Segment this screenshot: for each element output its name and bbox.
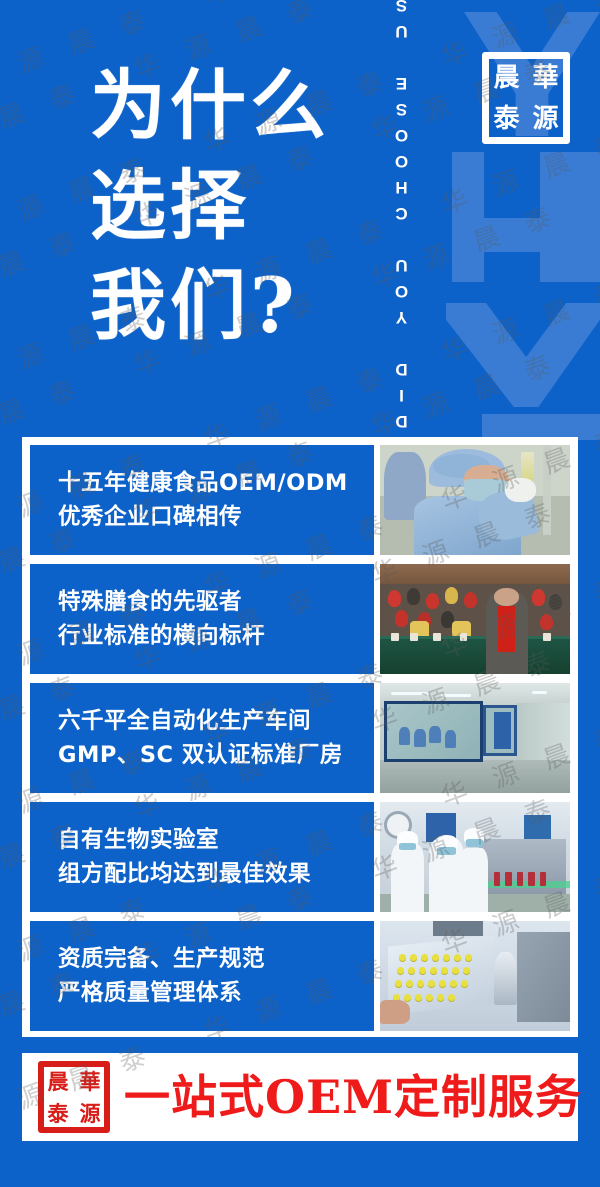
seal-red-char-top-left: 晨	[48, 1071, 69, 1092]
headline-line-3: 我们?	[90, 256, 330, 356]
list-item: 十五年健康食品OEM/ODM 优秀企业口碑相传	[30, 445, 570, 555]
seal-char-bottom-right: 源	[532, 106, 558, 132]
list-item: 特殊膳食的先驱者 行业标准的横向标杆	[30, 564, 570, 674]
decor-letter-h-bar	[452, 218, 600, 252]
feature-text-2: 特殊膳食的先驱者 行业标准的横向标杆	[30, 564, 374, 674]
feature-photo-blister-packaging	[380, 921, 570, 1031]
feature-2-line-1: 特殊膳食的先驱者	[58, 585, 374, 619]
feature-5-line-1: 资质完备、生产规范	[58, 942, 374, 976]
seal-stamp-white: 晨 華 泰 源	[482, 52, 570, 144]
feature-1-line-2: 优秀企业口碑相传	[58, 500, 374, 534]
list-item: 六千平全自动化生产车间 GMP、SC 双认证标准厂房	[30, 683, 570, 793]
feature-4-line-1: 自有生物实验室	[58, 823, 374, 857]
feature-text-1: 十五年健康食品OEM/ODM 优秀企业口碑相传	[30, 445, 374, 555]
headline-line-2: 选择	[90, 156, 330, 256]
watermark-text: 华 源 晨 泰	[0, 226, 89, 318]
feature-5-line-2: 严格质量管理体系	[58, 976, 374, 1010]
cta-banner-text: 一站式OEM定制服务	[124, 1074, 582, 1120]
headline-line-1: 为什么	[90, 56, 330, 156]
watermark-row: 华 源 晨 泰华 源 晨 泰华 源 晨 泰华 源 晨 泰华 源 晨 泰	[0, 0, 562, 25]
watermark-text: 华 源 晨 泰	[0, 78, 89, 170]
seal-char-bottom-left: 泰	[493, 106, 519, 132]
vertical-caption: DID YOU CHOOSE US	[392, 14, 412, 406]
brand-logo-red: 晨 華 泰 源	[38, 1061, 110, 1133]
list-item: 自有生物实验室 组方配比均达到最佳效果	[30, 802, 570, 912]
feature-photo-production-line	[380, 802, 570, 912]
feature-photo-cleanroom	[380, 683, 570, 793]
decor-letter-h-left	[452, 152, 484, 282]
feature-photo-conference	[380, 564, 570, 674]
seal-red-char-bottom-left: 泰	[48, 1103, 69, 1124]
feature-4-line-2: 组方配比均达到最佳效果	[58, 857, 374, 891]
watermark-text: 华 源 晨 泰	[438, 275, 600, 367]
feature-photo-lab-technician	[380, 445, 570, 555]
feature-text-5: 资质完备、生产规范 严格质量管理体系	[30, 921, 374, 1031]
brand-logo: 晨 華 泰 源	[482, 52, 570, 144]
watermark-text: 华 源 晨 泰	[201, 0, 397, 10]
feature-text-4: 自有生物实验室 组方配比均达到最佳效果	[30, 802, 374, 912]
watermark-text: 华 源 晨 泰	[0, 0, 89, 22]
feature-list-frame: 十五年健康食品OEM/ODM 优秀企业口碑相传 特殊膳食的先驱者 行业标准的横向…	[22, 437, 578, 1037]
seal-stamp-red: 晨 華 泰 源	[38, 1061, 110, 1133]
vertical-caption-text: DID YOU CHOOSE US	[392, 0, 412, 431]
feature-2-line-2: 行业标准的横向标杆	[58, 619, 374, 653]
feature-3-line-1: 六千平全自动化生产车间	[58, 704, 374, 738]
feature-3-line-2: GMP、SC 双认证标准厂房	[58, 738, 374, 772]
decor-letter-w	[446, 303, 600, 407]
list-item: 资质完备、生产规范 严格质量管理体系	[30, 921, 570, 1031]
page-title: 为什么 选择 我们?	[90, 56, 330, 356]
seal-red-char-bottom-right: 源	[80, 1103, 101, 1124]
feature-text-3: 六千平全自动化生产车间 GMP、SC 双认证标准厂房	[30, 683, 374, 793]
decor-letter-h-right	[540, 152, 600, 282]
seal-red-char-top-right: 華	[80, 1071, 101, 1092]
seal-char-top-left: 晨	[493, 65, 519, 91]
cta-banner: 晨 華 泰 源 一站式OEM定制服务	[22, 1053, 578, 1141]
seal-char-top-right: 華	[532, 65, 558, 91]
feature-1-line-1: 十五年健康食品OEM/ODM	[58, 466, 374, 500]
